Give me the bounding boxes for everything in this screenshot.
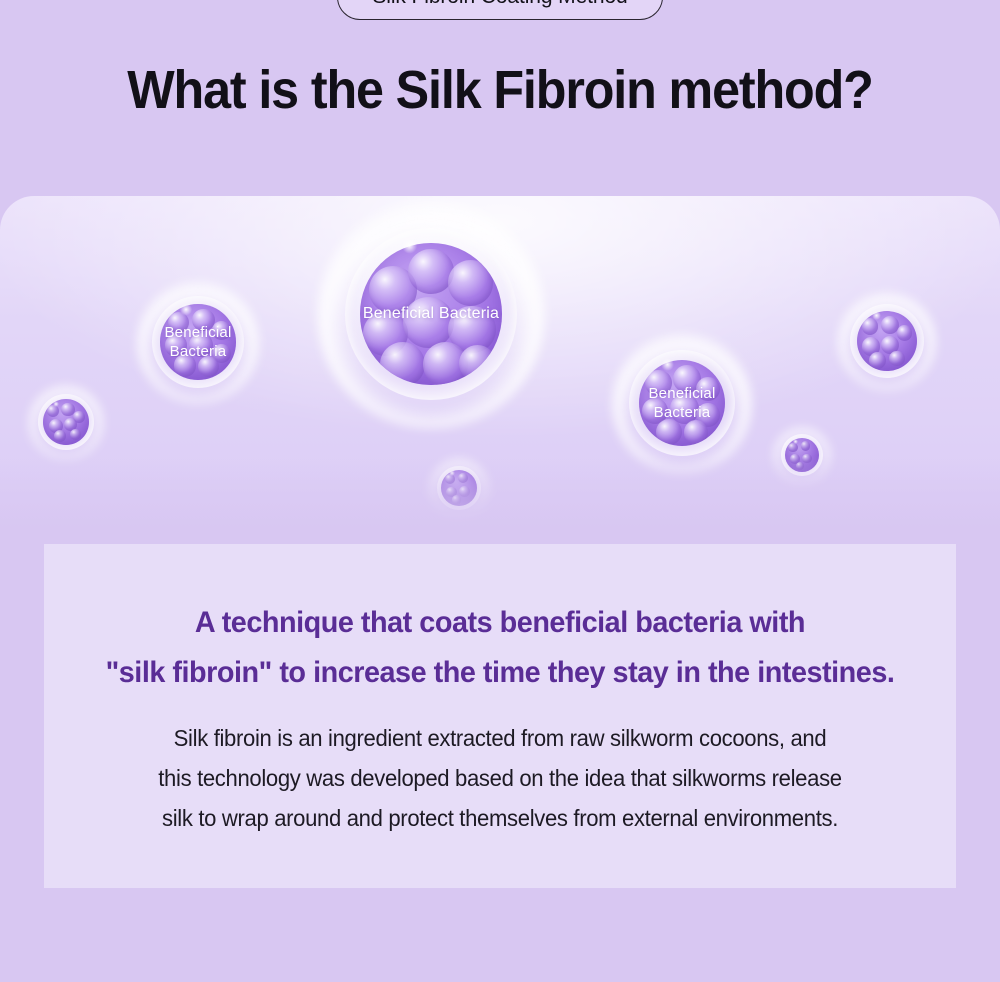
bubble-glow-icon — [430, 459, 488, 517]
badge-container: Silk Fibroin Coating Method — [0, 0, 1000, 20]
bacteria-cluster-icon — [360, 243, 501, 384]
body-line-2: this technology was developed based on t… — [62, 758, 938, 798]
bubble-highlight-icon — [661, 358, 674, 371]
illustration-panel: Beneficial Bacteria Beneficial Bacteria — [0, 196, 1000, 526]
bacteria-bubble-medium-left: Beneficial Bacteria — [152, 296, 244, 388]
bacteria-cluster-icon — [441, 470, 477, 506]
highlight-text: A technique that coats beneficial bacter… — [62, 598, 938, 698]
bacteria-cluster-icon — [785, 438, 819, 472]
bubble-highlight-icon — [793, 439, 798, 444]
highlight-line-2: "silk fibroin" to increase the time they… — [62, 648, 938, 698]
highlight-line-1: A technique that coats beneficial bacter… — [62, 598, 938, 648]
bacteria-bubble-small-right — [850, 304, 924, 378]
description-card: A technique that coats beneficial bacter… — [44, 544, 956, 888]
bacteria-bubble-tiny-right — [781, 434, 823, 476]
bubble-highlight-icon — [402, 238, 417, 253]
bacteria-bubble-medium-right: Beneficial Bacteria — [629, 350, 735, 456]
bubble-label — [437, 466, 481, 510]
page-title: What is the Silk Fibroin method? — [35, 61, 965, 120]
bubble-highlight-icon — [449, 470, 454, 475]
bacteria-bubble-small-left — [38, 394, 94, 450]
body-line-1: Silk fibroin is an ingredient extracted … — [62, 718, 938, 758]
section-badge: Silk Fibroin Coating Method — [337, 0, 662, 20]
bacteria-bubble-large-center: Beneficial Bacteria — [345, 228, 517, 400]
body-line-3: silk to wrap around and protect themselv… — [62, 798, 938, 838]
bacteria-bubble-tiny-center — [437, 466, 481, 510]
body-text: Silk fibroin is an ingredient extracted … — [62, 718, 938, 838]
bacteria-cluster-icon — [160, 304, 235, 379]
bacteria-cluster-icon — [43, 399, 89, 445]
silk-fibroin-coating-icon — [437, 466, 481, 510]
